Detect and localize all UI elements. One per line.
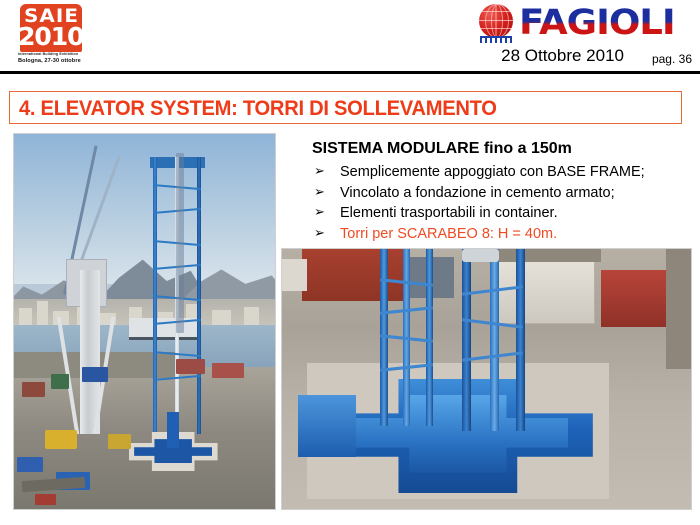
photo-yard-vehicle bbox=[108, 434, 131, 449]
photo-yard-equipment bbox=[17, 457, 43, 472]
content-bullet-list: ➢ Semplicemente appoggiato con BASE FRAM… bbox=[312, 162, 692, 244]
arrow-bullet-icon: ➢ bbox=[314, 224, 325, 245]
list-item: ➢ Elementi trasportabili in container. bbox=[312, 203, 692, 224]
list-item: ➢ Torri per SCARABEO 8: H = 40m. bbox=[312, 224, 692, 245]
photo-stone-wall bbox=[666, 249, 691, 369]
arrow-bullet-icon: ➢ bbox=[314, 162, 325, 183]
content-heading: SISTEMA MODULARE fino a 150m bbox=[312, 139, 692, 159]
photo-container-white bbox=[282, 259, 307, 290]
header-page-number: pag. 36 bbox=[652, 52, 692, 66]
fagioli-logo: FAGIOLI bbox=[479, 2, 694, 46]
header-divider bbox=[0, 71, 700, 74]
photo-base-frame bbox=[129, 412, 218, 472]
photo-container-red-right bbox=[601, 270, 666, 327]
saie-logo-subtitle-1: International Building Exhibition bbox=[18, 52, 98, 57]
saie-logo-year: 2010 bbox=[18, 23, 92, 50]
photo-yard-equipment bbox=[176, 359, 205, 374]
photo-yard-equipment bbox=[82, 367, 108, 382]
page-title: 4. ELEVATOR SYSTEM: TORRI DI SOLLEVAMENT… bbox=[19, 96, 497, 121]
fagioli-wordmark: FAGIOLI bbox=[519, 2, 675, 44]
header-date: 28 Ottobre 2010 bbox=[501, 46, 624, 66]
slide-title-box: 4. ELEVATOR SYSTEM: TORRI DI SOLLEVAMENT… bbox=[9, 91, 682, 124]
harbour-lifting-tower-photo bbox=[13, 133, 276, 510]
list-item-label: Elementi trasportabili in container. bbox=[340, 205, 558, 221]
photo-harbour-crane bbox=[61, 142, 150, 435]
slide-root: SAIE 2010 International Building Exhibit… bbox=[0, 0, 700, 525]
list-item-label: Torri per SCARABEO 8: H = 40m. bbox=[340, 226, 557, 242]
photo-tower-leg-left bbox=[380, 249, 433, 426]
content-text-block: SISTEMA MODULARE fino a 150m ➢ Semplicem… bbox=[312, 139, 692, 244]
photo-yard-equipment bbox=[176, 153, 184, 333]
arrow-bullet-icon: ➢ bbox=[314, 183, 325, 204]
photo-yard-equipment bbox=[212, 363, 243, 378]
photo-yard-equipment bbox=[22, 382, 45, 397]
slide-header: SAIE 2010 International Building Exhibit… bbox=[0, 0, 700, 74]
base-frame-closeup-photo bbox=[281, 248, 692, 510]
list-item-label: Semplicemente appoggiato con BASE FRAME; bbox=[340, 164, 645, 180]
arrow-bullet-icon: ➢ bbox=[314, 203, 325, 224]
saie-logo-subtitle-2: Bologna, 27-30 ottobre bbox=[18, 58, 103, 65]
photo-yard-vehicle bbox=[45, 430, 76, 449]
photo-tower-leg-right bbox=[462, 249, 523, 431]
globe-icon bbox=[479, 4, 513, 38]
saie-logo: SAIE 2010 International Building Exhibit… bbox=[8, 4, 92, 66]
photo-yard-equipment bbox=[51, 374, 69, 389]
globe-icon-base-teeth bbox=[479, 37, 513, 43]
photo-yard-equipment bbox=[35, 494, 56, 505]
photo-base-frame-side-left bbox=[298, 395, 355, 457]
list-item: ➢ Vincolato a fondazione in cemento arma… bbox=[312, 183, 692, 204]
list-item-label: Vincolato a fondazione in cemento armato… bbox=[340, 185, 615, 201]
photo-tower-cap bbox=[462, 249, 499, 262]
list-item: ➢ Semplicemente appoggiato con BASE FRAM… bbox=[312, 162, 692, 183]
